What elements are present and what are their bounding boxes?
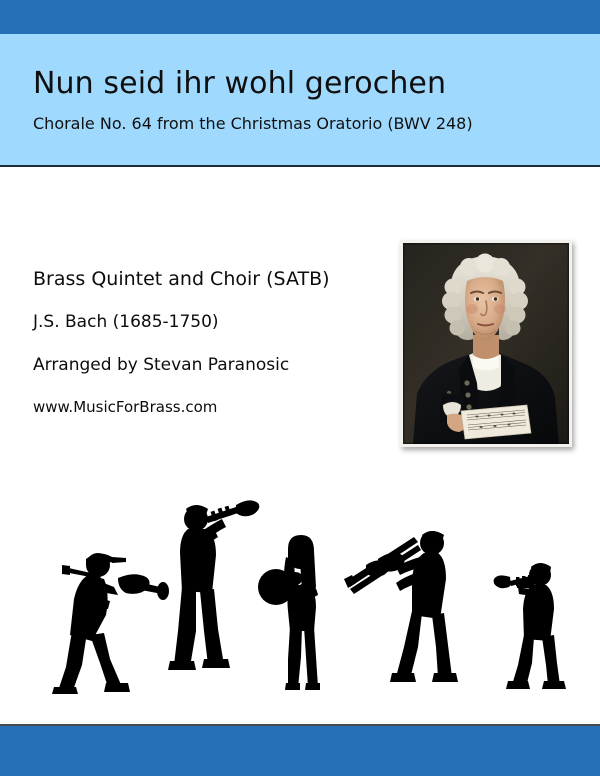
credits-block: Brass Quintet and Choir (SATB) J.S. Bach…	[33, 268, 373, 416]
trumpet-player-center-left-icon	[168, 500, 259, 670]
arranger-line: Arranged by Stevan Paranosic	[33, 355, 373, 375]
trombone-player-left-icon	[52, 553, 169, 694]
trombone-player-center-right-icon	[344, 531, 458, 682]
cover-page: Nun seid ihr wohl gerochen Chorale No. 6…	[0, 0, 600, 776]
page-title: Nun seid ihr wohl gerochen	[33, 66, 446, 101]
trumpet-player-right-icon	[494, 563, 566, 689]
musician-silhouettes-row	[0, 495, 600, 695]
instrumentation-line: Brass Quintet and Choir (SATB)	[33, 268, 373, 290]
composer-portrait-image	[403, 243, 569, 444]
top-accent-bar	[0, 0, 600, 34]
composer-line: J.S. Bach (1685-1750)	[33, 312, 373, 332]
horn-player-center-icon	[258, 535, 320, 690]
page-subtitle: Chorale No. 64 from the Christmas Orator…	[33, 114, 473, 133]
title-band: Nun seid ihr wohl gerochen Chorale No. 6…	[0, 34, 600, 167]
composer-portrait-frame	[400, 240, 572, 447]
bottom-accent-bar	[0, 724, 600, 776]
website-line: www.MusicForBrass.com	[33, 398, 373, 416]
